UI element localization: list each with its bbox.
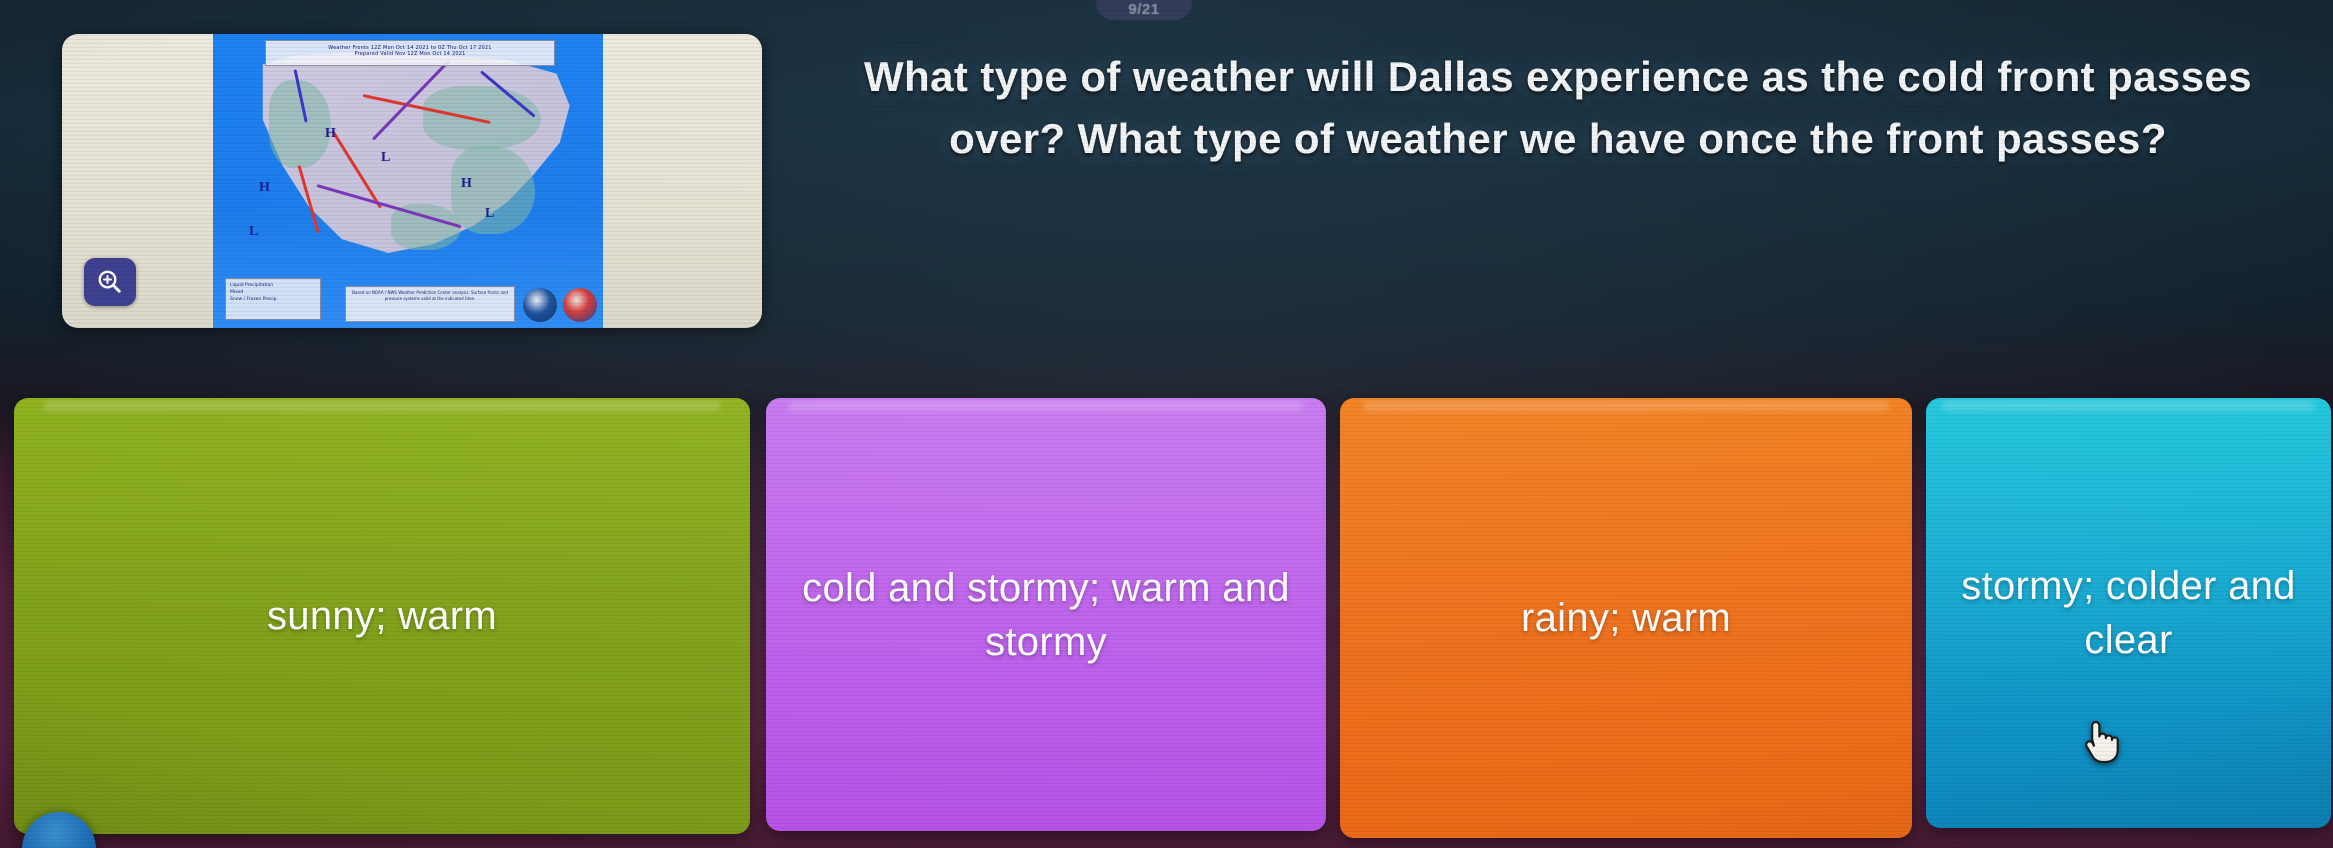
- question-counter-badge: 9/21: [1096, 0, 1192, 20]
- answer-option-c[interactable]: rainy; warm: [1340, 398, 1912, 838]
- answer-label: sunny; warm: [267, 589, 497, 643]
- question-image-card[interactable]: H L H L H L Weather Fronts 12Z Mon Oct 1…: [62, 34, 762, 328]
- answer-label: cold and stormy; warm and stormy: [792, 561, 1300, 669]
- map-caption: Based on NOAA / NWS Weather Prediction C…: [345, 286, 515, 322]
- map-pressure-label: L: [485, 206, 494, 222]
- map-pressure-label: L: [381, 150, 390, 166]
- map-title-box: Weather Fronts 12Z Mon Oct 14 2021 to 0Z…: [265, 40, 555, 66]
- map-legend-item: Mixed: [230, 289, 316, 296]
- answer-option-b[interactable]: cold and stormy; warm and stormy: [766, 398, 1326, 831]
- noaa-seal-icon: [523, 288, 557, 322]
- question-text: What type of weather will Dallas experie…: [808, 46, 2308, 170]
- weather-map-image: H L H L H L Weather Fronts 12Z Mon Oct 1…: [213, 34, 603, 328]
- magnify-plus-icon[interactable]: [84, 258, 136, 306]
- answer-option-d[interactable]: stormy; colder and clear: [1926, 398, 2331, 828]
- question-panel: H L H L H L Weather Fronts 12Z Mon Oct 1…: [18, 6, 2318, 376]
- answer-label: stormy; colder and clear: [1952, 559, 2305, 667]
- map-legend: Liquid Precipitation Mixed Snow / Frozen…: [225, 278, 321, 320]
- map-pressure-label: L: [249, 224, 258, 240]
- map-pressure-label: H: [259, 180, 270, 196]
- answer-label: rainy; warm: [1521, 591, 1731, 645]
- map-precip-region: [423, 86, 541, 150]
- map-title-line-2: Prepared Valid Nov 12Z Mon Oct 14 2021: [266, 51, 554, 57]
- quiz-screen: 9/21 H L: [0, 0, 2333, 848]
- answer-options: sunny; warm cold and stormy; warm and st…: [0, 398, 2333, 848]
- answer-option-a[interactable]: sunny; warm: [14, 398, 750, 834]
- nws-seal-icon: [563, 288, 597, 322]
- map-pressure-label: H: [325, 126, 336, 142]
- map-pressure-label: H: [461, 176, 472, 192]
- map-legend-item: Snow / Frozen Precip: [230, 296, 316, 303]
- map-legend-item: Liquid Precipitation: [230, 282, 316, 289]
